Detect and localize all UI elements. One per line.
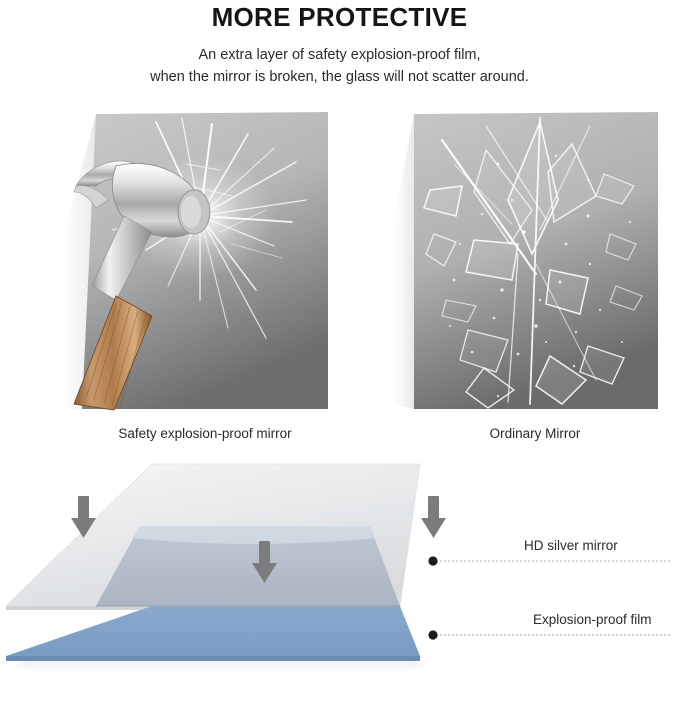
subtitle-line-2: when the mirror is broken, the glass wil… <box>0 66 679 88</box>
subtitle-line-1: An extra layer of safety explosion-proof… <box>0 44 679 66</box>
subtitle: An extra layer of safety explosion-proof… <box>0 44 679 88</box>
label-explosion-proof-film: Explosion-proof film <box>533 612 652 627</box>
leader-dot-mirror <box>428 556 437 565</box>
hammer-face-highlight <box>181 196 201 228</box>
label-hd-silver-mirror: HD silver mirror <box>524 538 618 553</box>
shattered-glass-illustration <box>390 104 679 424</box>
photo-ordinary-mirror <box>390 104 679 424</box>
explosion-proof-film-plane <box>6 606 420 656</box>
film-plane-thickness <box>6 656 420 661</box>
leader-dot-film <box>428 630 437 639</box>
arrow-down-right <box>421 496 446 538</box>
header: MORE PROTECTIVE An extra layer of safety… <box>0 0 679 88</box>
caption-ordinary-mirror: Ordinary Mirror <box>390 426 679 441</box>
caption-safety-mirror: Safety explosion-proof mirror <box>60 426 350 441</box>
exploded-layer-illustration <box>0 458 679 699</box>
photo-safety-mirror <box>60 104 350 424</box>
hammer-cracked-mirror-illustration <box>60 104 350 424</box>
page-title: MORE PROTECTIVE <box>0 2 679 32</box>
layer-diagram: HD silver mirror Explosion-proof film <box>0 458 679 699</box>
callout-leaders <box>428 556 672 639</box>
comparison-section: Safety explosion-proof mirror Ordinary M… <box>0 104 679 454</box>
